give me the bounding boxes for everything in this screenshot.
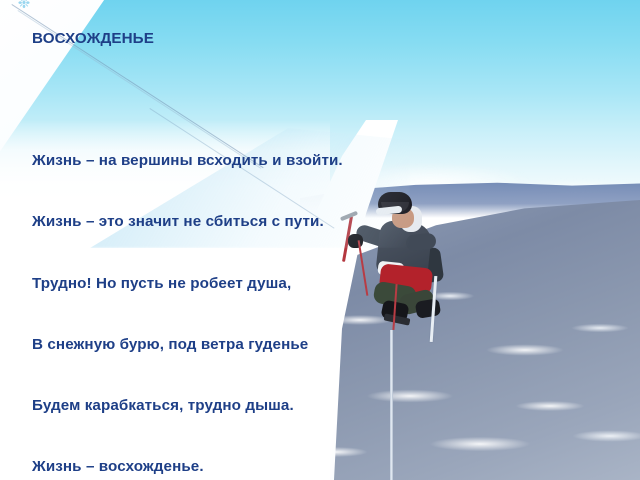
poem-line-2: Жизнь – это значит не сбиться с пути.: [32, 212, 632, 232]
poem-line-4: В снежную бурю, под ветра гуденье: [32, 335, 632, 355]
spacer-1: [32, 90, 632, 110]
poem-text-block: ВОСХОЖДЕНЬЕ Жизнь – на вершины всходить …: [32, 0, 632, 480]
poem-line-5: Будем карабкаться, трудно дыша.: [32, 396, 632, 416]
poem-line-1: Жизнь – на вершины всходить и взойти.: [32, 151, 632, 171]
poem-line-6: Жизнь – восхожденье.: [32, 457, 632, 477]
snowflake-icon: ❉: [16, 0, 32, 12]
poem-title: ВОСХОЖДЕНЬЕ: [32, 29, 632, 49]
poem-line-3: Трудно! Но пусть не робеет душа,: [32, 274, 632, 294]
presentation-slide: ❉ ВОСХОЖДЕНЬЕ Жизнь – на вершины всходит…: [0, 0, 640, 480]
